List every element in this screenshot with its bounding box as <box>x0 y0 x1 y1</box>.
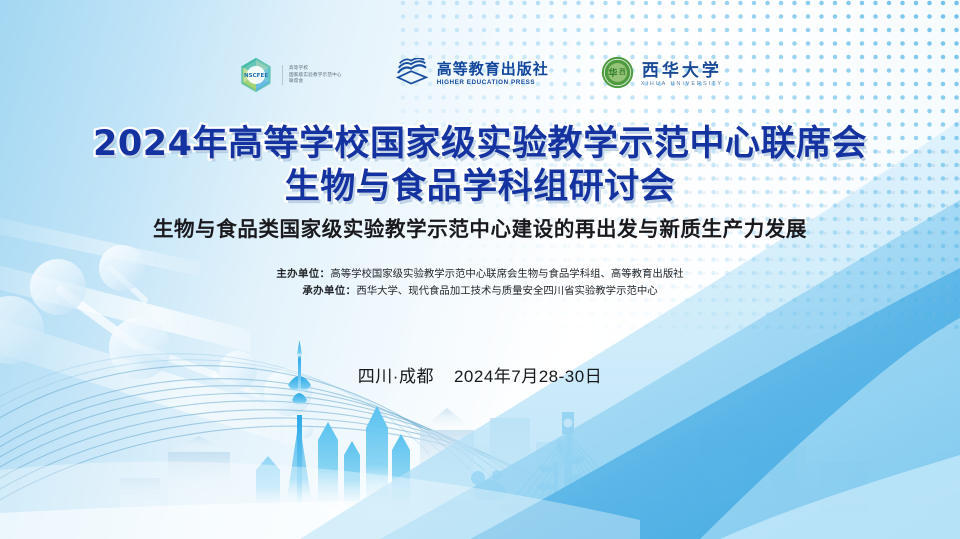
nscfee-hexagon-icon: NSCFEE <box>237 56 275 94</box>
place-text: 四川·成都 <box>358 367 434 386</box>
bridge <box>500 412 640 513</box>
nscfee-label: 高等学校 国家级实验教学示范中心 联席会 <box>282 65 342 84</box>
svg-text:华: 华 <box>608 67 617 79</box>
xihua-name-cn: 西华大学 <box>642 62 722 79</box>
hep-name-cn: 高等教育出版社 <box>437 63 549 78</box>
poster-subtitle: 生物与食品类国家级实验教学示范中心建设的再出发与新质生产力发展 <box>0 212 960 242</box>
organizer-label-undertaker: 承办单位： <box>302 286 356 297</box>
date-text: 2024年7月28-30日 <box>454 367 602 386</box>
hep-name-en: HIGHER EDUCATION PRESS <box>437 80 549 86</box>
organizer-label-host: 主办单位： <box>276 269 330 280</box>
panda <box>471 469 506 504</box>
xihua-university-seal-icon: 华 西 <box>601 56 634 94</box>
logo-xihua-university: 华 西 西华大学 XIHUA UNIVERSITY <box>601 56 723 94</box>
svg-text:西: 西 <box>619 68 626 76</box>
logo-higher-education-press: 高等教育出版社 HIGHER EDUCATION PRESS <box>394 58 549 93</box>
sponsor-logo-bar: NSCFEE 高等学校 国家级实验教学示范中心 联席会 <box>0 46 960 104</box>
date-and-place: 四川·成都2024年7月28-30日 <box>0 362 960 387</box>
organizer-row-host: 主办单位：高等学校国家级实验教学示范中心联席会生物与食品学科组、高等教育出版社 <box>0 266 960 283</box>
organizer-row-undertaker: 承办单位：西华大学、现代食品加工技术与质量安全四川省实验教学示范中心 <box>0 283 960 300</box>
nscfee-acronym: NSCFEE <box>244 73 268 79</box>
organizer-block: 主办单位：高等学校国家级实验教学示范中心联席会生物与食品学科组、高等教育出版社 … <box>0 266 960 300</box>
poster-banner: NSCFEE 高等学校 国家级实验教学示范中心 联席会 <box>0 0 960 539</box>
bamboo-and-panda <box>471 438 586 513</box>
poster-headline: 2024年高等学校国家级实验教学示范中心联席会 生物与食品学科组研讨会 <box>0 124 960 207</box>
organizer-value-undertaker: 西华大学、现代食品加工技术与质量安全四川省实验教学示范中心 <box>356 286 657 297</box>
higher-education-press-label: 高等教育出版社 HIGHER EDUCATION PRESS <box>437 63 549 86</box>
organizer-value-host: 高等学校国家级实验教学示范中心联席会生物与食品学科组、高等教育出版社 <box>330 269 683 280</box>
xihua-university-label: 西华大学 XIHUA UNIVERSITY <box>641 62 723 88</box>
higher-education-press-book-icon <box>394 58 430 93</box>
concentric-arc-lines <box>0 366 648 539</box>
nscfee-label-line3: 联席会 <box>289 78 342 84</box>
logo-nscfee: NSCFEE 高等学校 国家级实验教学示范中心 联席会 <box>237 56 342 94</box>
headline-line-1: 2024年高等学校国家级实验教学示范中心联席会 <box>93 124 867 164</box>
headline-line-2: 生物与食品学科组研讨会 <box>0 167 960 207</box>
xihua-name-en: XIHUA UNIVERSITY <box>641 82 723 88</box>
